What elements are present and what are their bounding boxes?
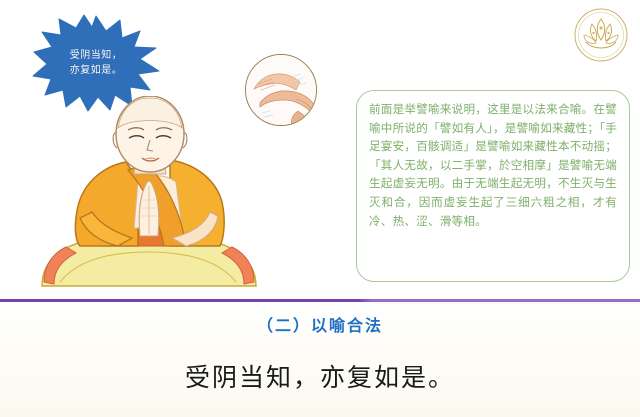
main-quote: 受阴当知，亦复如是。 xyxy=(0,358,640,394)
purple-divider xyxy=(0,299,640,302)
slide-canvas: 受阴当知， 亦复如是。 xyxy=(0,0,640,417)
lotus-logo-icon xyxy=(572,6,630,64)
meditating-monk-illustration xyxy=(20,96,290,296)
explanation-text: 前面是举譬喻来说明，这里是以法来合喻。在譬喻中所说的「譬如有人」，是譬喻如来藏性… xyxy=(369,100,617,230)
explanation-textbox: 前面是举譬喻来说明，这里是以法来合喻。在譬喻中所说的「譬如有人」，是譬喻如来藏性… xyxy=(356,90,630,282)
section-heading: （二）以喻合法 xyxy=(0,312,640,336)
